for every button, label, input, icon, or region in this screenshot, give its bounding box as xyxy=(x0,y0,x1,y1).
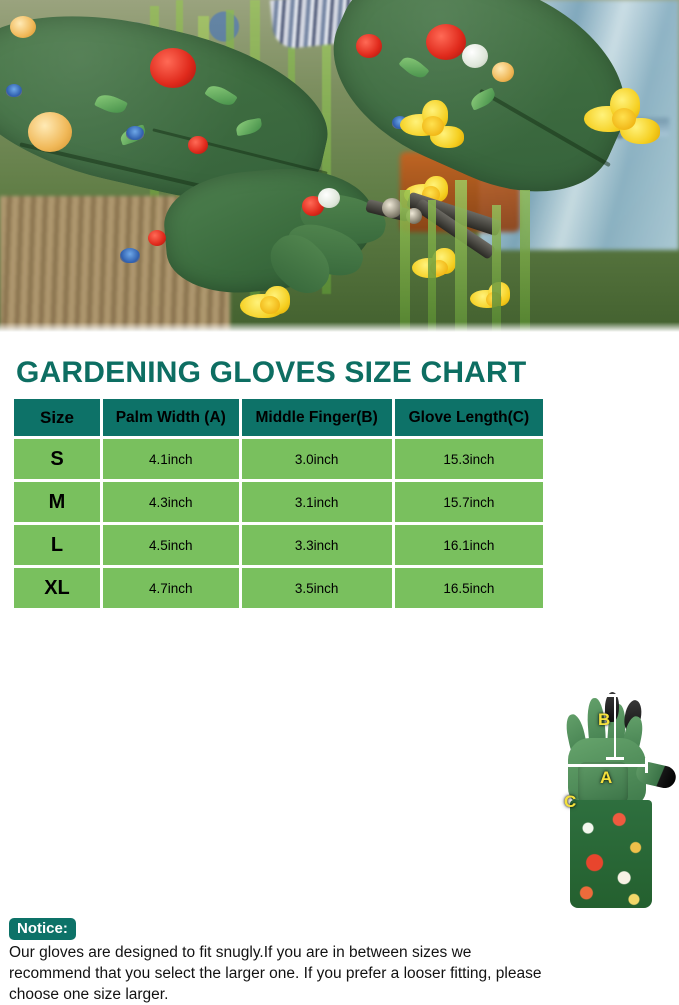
marker-label-c: C xyxy=(564,792,576,812)
product-photo xyxy=(0,0,679,332)
photo-bottom-fade xyxy=(0,322,679,332)
table-row: S 4.1inch 3.0inch 15.3inch xyxy=(14,439,543,479)
table-row: L 4.5inch 3.3inch 16.1inch xyxy=(14,525,543,565)
cell-palm-width: 4.7inch xyxy=(103,568,239,608)
cell-size: S xyxy=(14,439,100,479)
marker-b-line xyxy=(614,694,616,760)
marker-label-b: B xyxy=(598,710,610,730)
marker-b-cap-bottom xyxy=(606,757,624,760)
cell-size: M xyxy=(14,482,100,522)
marker-a-cap-right xyxy=(645,758,648,773)
marker-label-a: A xyxy=(600,768,612,788)
foreground-stems xyxy=(0,0,679,332)
marker-c-cap-top xyxy=(548,686,563,689)
column-header-glove-length: Glove Length(C) xyxy=(395,399,543,436)
glove-floral-cuff xyxy=(570,800,652,908)
marker-a-cap-left xyxy=(564,758,567,773)
size-chart-page: GARDENING GLOVES SIZE CHART Size Palm Wi… xyxy=(0,0,679,674)
cell-glove-length: 15.3inch xyxy=(395,439,543,479)
table-header-row: Size Palm Width (A) Middle Finger(B) Glo… xyxy=(14,399,543,436)
cell-palm-width: 4.3inch xyxy=(103,482,239,522)
size-chart-section: GARDENING GLOVES SIZE CHART Size Palm Wi… xyxy=(0,332,679,674)
page-title: GARDENING GLOVES SIZE CHART xyxy=(16,356,526,390)
cell-palm-width: 4.5inch xyxy=(103,525,239,565)
column-header-palm-width: Palm Width (A) xyxy=(103,399,239,436)
cell-palm-width: 4.1inch xyxy=(103,439,239,479)
marker-c-line xyxy=(554,686,556,908)
table-row: XL 4.7inch 3.5inch 16.5inch xyxy=(14,568,543,608)
notice-badge: Notice: xyxy=(9,918,76,940)
cell-middle-finger: 3.1inch xyxy=(242,482,392,522)
marker-b-cap-top xyxy=(606,694,624,697)
marker-c-cap-bottom xyxy=(548,905,563,908)
cell-glove-length: 16.5inch xyxy=(395,568,543,608)
cell-glove-length: 15.7inch xyxy=(395,482,543,522)
cell-middle-finger: 3.0inch xyxy=(242,439,392,479)
table-row: M 4.3inch 3.1inch 15.7inch xyxy=(14,482,543,522)
glove-measurement-diagram: B A C xyxy=(548,680,676,908)
column-header-middle-finger: Middle Finger(B) xyxy=(242,399,392,436)
cell-size: XL xyxy=(14,568,100,608)
cell-glove-length: 16.1inch xyxy=(395,525,543,565)
column-header-size: Size xyxy=(14,399,100,436)
size-table: Size Palm Width (A) Middle Finger(B) Glo… xyxy=(11,396,546,611)
cell-middle-finger: 3.5inch xyxy=(242,568,392,608)
cell-size: L xyxy=(14,525,100,565)
cell-middle-finger: 3.3inch xyxy=(242,525,392,565)
notice-text: Our gloves are designed to fit snugly.If… xyxy=(9,942,549,1005)
marker-a-line xyxy=(564,764,648,767)
